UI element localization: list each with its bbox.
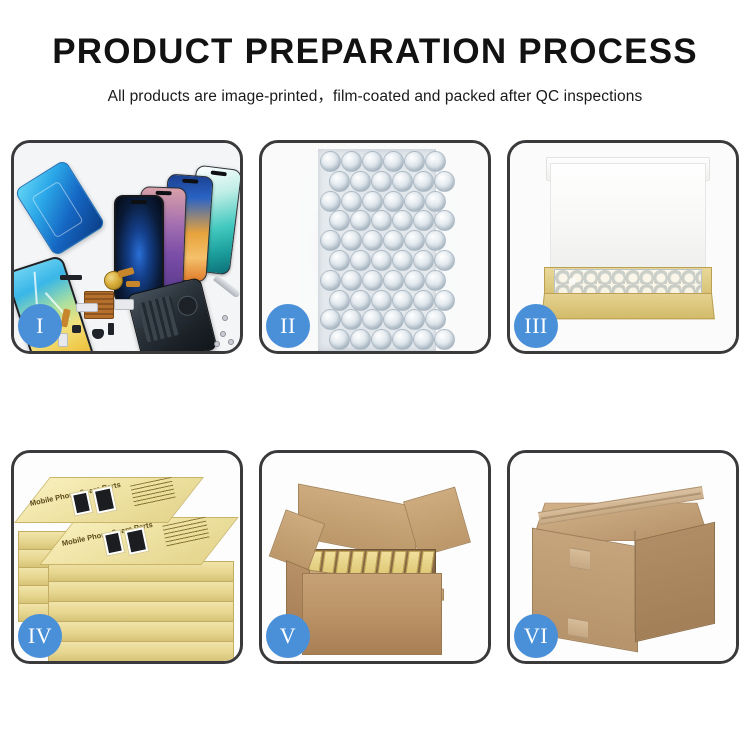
bubble (329, 290, 350, 311)
screen-glass (105, 533, 121, 553)
packing-tape-front-upper (570, 547, 590, 571)
bubble (383, 230, 404, 251)
phone-notch (182, 179, 198, 184)
bubble (413, 329, 434, 350)
bubble (404, 191, 425, 212)
step-badge-4: IV (18, 614, 62, 658)
step-panel-2: II (259, 140, 491, 354)
bubble (362, 230, 383, 251)
bubble (350, 290, 371, 311)
phone-notch (211, 170, 227, 175)
bubble (329, 171, 350, 192)
connector-part (114, 299, 134, 310)
bubble (371, 171, 392, 192)
bubble (434, 290, 455, 311)
screen-glass (127, 530, 146, 553)
bubble (362, 151, 383, 172)
bubble (404, 230, 425, 251)
bubble (413, 250, 434, 271)
bubble (404, 151, 425, 172)
bubble (425, 270, 446, 291)
bubble (362, 270, 383, 291)
bubble (320, 230, 341, 251)
bubble-grid (320, 151, 434, 349)
page-header: PRODUCT PREPARATION PROCESS All products… (0, 0, 750, 106)
phone-notch (156, 191, 172, 195)
bubble (434, 171, 455, 192)
bubble (425, 191, 446, 212)
bubble (392, 171, 413, 192)
bubble (404, 270, 425, 291)
bubble (434, 250, 455, 271)
bubble (392, 210, 413, 231)
carton-corner-edge (634, 531, 636, 633)
bubble (341, 151, 362, 172)
bubble (413, 290, 434, 311)
bubble (320, 191, 341, 212)
bubble (320, 309, 341, 330)
sealed-carton-side (635, 522, 715, 642)
bubble (371, 250, 392, 271)
page-subtitle: All products are image-printed，film-coat… (0, 84, 750, 106)
step-badge-6: VI (514, 614, 558, 658)
process-steps-grid: I II (11, 140, 739, 664)
step-panel-4: Mobile Phone Spare Parts Mobile Phone Sp… (11, 450, 243, 664)
box-tray-front (541, 293, 715, 319)
step-panel-1: I (11, 140, 243, 354)
screw-part (214, 341, 220, 347)
bubble (362, 309, 383, 330)
chip-part (60, 275, 82, 280)
step-panel-6: VI (507, 450, 739, 664)
phone-notch (131, 200, 147, 204)
bubble (329, 329, 350, 350)
bubble (383, 309, 404, 330)
bubble (350, 329, 371, 350)
box-lid-face (550, 163, 706, 275)
screw-part (222, 315, 228, 321)
bubble (320, 151, 341, 172)
step-badge-1: I (18, 304, 62, 348)
step-badge-2: II (266, 304, 310, 348)
bubble (341, 309, 362, 330)
retail-box (48, 581, 234, 602)
screen-glass (73, 493, 89, 513)
bubble (350, 210, 371, 231)
bubble (341, 191, 362, 212)
bubble (434, 329, 455, 350)
screw-part (220, 331, 226, 337)
bubble (434, 210, 455, 231)
battery-connector-part (108, 323, 114, 335)
bubble (362, 191, 383, 212)
bubble (371, 290, 392, 311)
screw-part (228, 339, 234, 345)
flex-cable-part (126, 281, 140, 287)
retail-box (48, 601, 234, 622)
bubble (371, 329, 392, 350)
bubble (425, 151, 446, 172)
step-badge-5: V (266, 614, 310, 658)
bubble (404, 309, 425, 330)
bubble (383, 191, 404, 212)
bubble (350, 250, 371, 271)
chip-part (72, 325, 81, 333)
bubble (383, 270, 404, 291)
retail-box (48, 641, 234, 661)
bubble (371, 210, 392, 231)
bubble (413, 210, 434, 231)
carton-front-panel (302, 573, 442, 655)
bubble (383, 151, 404, 172)
bubble (320, 270, 341, 291)
packing-tape-front-lower (568, 617, 588, 639)
bubble (329, 210, 350, 231)
bubble (350, 171, 371, 192)
bubble (392, 290, 413, 311)
screen-glass (95, 489, 114, 512)
bubble (413, 171, 434, 192)
step-panel-3: III (507, 140, 739, 354)
bubble (392, 250, 413, 271)
step-badge-3: III (514, 304, 558, 348)
bubble (341, 230, 362, 251)
retail-box (48, 621, 234, 642)
bubble (392, 329, 413, 350)
page-title: PRODUCT PREPARATION PROCESS (0, 34, 750, 71)
bubble (329, 250, 350, 271)
bubble (341, 270, 362, 291)
connector-part (76, 303, 98, 312)
step-panel-5: V (259, 450, 491, 664)
